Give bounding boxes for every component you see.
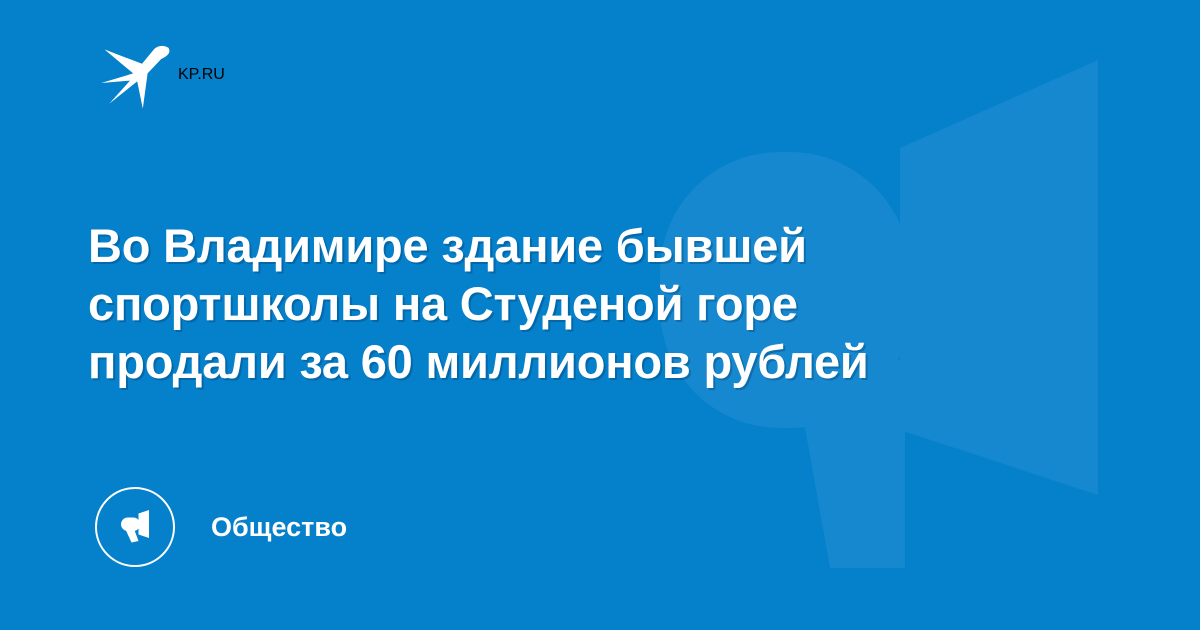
- category-label: Общество: [211, 514, 347, 541]
- article-share-card: KP.RU Во Владимире здание бывшей спортшк…: [0, 0, 1200, 630]
- headline-line-3: продали за 60 миллионов рублей: [88, 333, 1098, 391]
- headline-line-1: Во Владимире здание бывшей: [88, 217, 1098, 275]
- category-icon-circle: [95, 487, 175, 567]
- headline-line-2: спортшколы на Студеной горе: [88, 275, 1098, 333]
- brand-name: KP.RU: [178, 66, 225, 84]
- swallow-bird-logo-icon: [98, 35, 178, 115]
- site-logo[interactable]: KP.RU: [98, 34, 225, 116]
- megaphone-icon: [113, 505, 157, 549]
- category-badge[interactable]: Общество: [95, 487, 347, 567]
- headline: Во Владимире здание бывшей спортшколы на…: [88, 217, 1098, 391]
